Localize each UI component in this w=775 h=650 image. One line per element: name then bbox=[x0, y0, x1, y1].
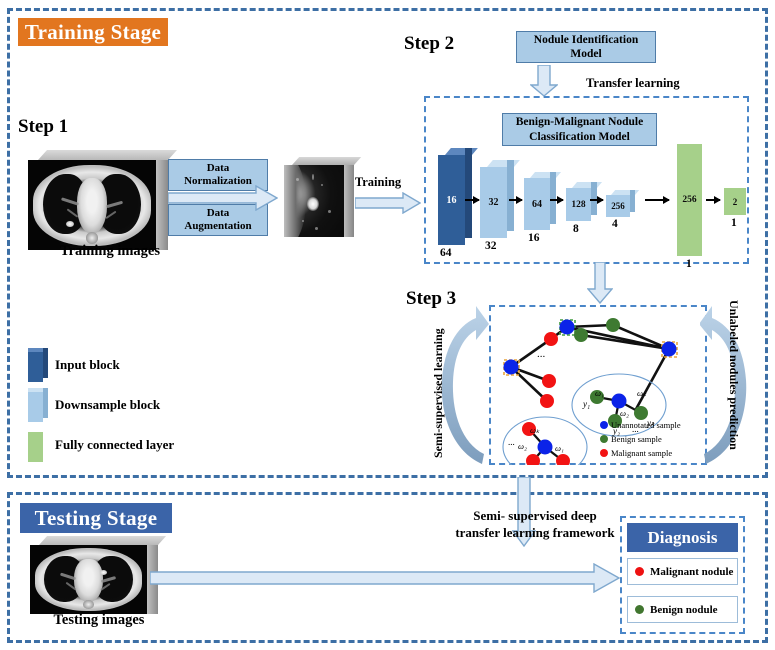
cnn-input-block-size: 64 bbox=[440, 247, 452, 259]
nodule-identification-line2: Model bbox=[570, 48, 601, 60]
cnn-downsample-3: 128 bbox=[566, 182, 597, 221]
unannotated-sample-dot-icon bbox=[600, 421, 608, 429]
cnn-ds4-channels: 256 bbox=[611, 201, 625, 211]
training-images-caption: Training images bbox=[30, 243, 190, 260]
training-block-arrow bbox=[355, 192, 421, 214]
svg-text:...: ... bbox=[587, 324, 596, 336]
malignant-weight-omega2: ω₂ bbox=[518, 441, 527, 451]
cnn-ds3-size: 8 bbox=[573, 223, 579, 235]
patch-top-face bbox=[292, 157, 361, 165]
benign-malignant-classification-model-box: Benign-Malignant Nodule Classification M… bbox=[502, 113, 657, 146]
training-images-volume bbox=[28, 150, 168, 250]
data-normalization-line1: Data bbox=[207, 162, 230, 174]
malignant-cluster-ellipsis: ... bbox=[508, 437, 515, 447]
testing-images-volume bbox=[30, 536, 158, 614]
benign-weight-omega2: ω₂ bbox=[620, 408, 629, 418]
diagnosis-row-malignant: Malignant nodule bbox=[627, 558, 738, 585]
cnn-ds4-size: 4 bbox=[612, 218, 618, 230]
cnn-downsample-4: 256 bbox=[606, 190, 635, 217]
cnn-downsample-2: 64 bbox=[524, 172, 556, 230]
legend-input-block-label: Input block bbox=[55, 357, 120, 373]
preprocess-block-arrow bbox=[168, 185, 278, 211]
cnn-ds3-channels: 128 bbox=[571, 200, 585, 210]
legend-downsample-block-label: Downsample block bbox=[55, 397, 160, 413]
semi-supervised-learning-label: Semi-supervised learning bbox=[418, 306, 434, 458]
testing-ct-slice bbox=[30, 545, 147, 614]
training-stage-badge: Training Stage bbox=[18, 18, 168, 46]
cnn-input-block: 16 bbox=[438, 148, 472, 245]
step3-legend-benign-label: Benign sample bbox=[611, 434, 662, 444]
diagnosis-title: Diagnosis bbox=[627, 523, 738, 552]
nodule-patch-image bbox=[284, 165, 344, 237]
nodule-identification-line1: Nodule Identification bbox=[534, 34, 638, 46]
benign-weight-omega1: ω₁ bbox=[595, 388, 604, 398]
cnn-fc-size: 1 bbox=[686, 258, 692, 270]
step3-legend-unannotated-label: Unannotated sample bbox=[611, 420, 681, 430]
cnn-output-size: 1 bbox=[731, 217, 737, 229]
cnn-arrow-6 bbox=[706, 199, 720, 201]
transfer-learning-label: Transfer learning bbox=[586, 76, 680, 91]
benign-sample-dot-icon bbox=[600, 435, 608, 443]
testing-images-caption: Testing images bbox=[24, 612, 174, 629]
diagnosis-malignant-label: Malignant nodule bbox=[650, 566, 733, 578]
step2-to-step3-arrow bbox=[587, 262, 613, 304]
cnn-output-channels: 2 bbox=[733, 197, 738, 207]
training-arrow-label: Training bbox=[342, 175, 414, 190]
unlabeled-nodules-prediction-label: Unlabeled nodules prediction bbox=[738, 300, 754, 470]
cnn-output-layer: 2 bbox=[724, 188, 746, 215]
testing-stage-badge: Testing Stage bbox=[20, 503, 172, 533]
testing-volume-top-face bbox=[39, 536, 166, 545]
volume-side-face bbox=[156, 160, 168, 250]
step3-legend-benign: Benign sample bbox=[600, 434, 662, 444]
cnn-arrow-1 bbox=[465, 199, 479, 201]
cnn-fc-channels: 256 bbox=[682, 195, 696, 205]
diagnosis-row-benign: Benign nodule bbox=[627, 596, 738, 623]
training-ct-slice bbox=[28, 160, 156, 250]
testing-to-diagnosis-arrow bbox=[150, 563, 620, 593]
step3-legend-malignant: Malignant sample bbox=[600, 448, 672, 458]
data-augmentation-line2: Augmentation bbox=[184, 220, 251, 232]
malignant-weight-omegak: ωₖ bbox=[530, 425, 540, 436]
svg-text:...: ... bbox=[537, 348, 546, 360]
step1-title: Step 1 bbox=[18, 116, 68, 138]
malignant-sample-dot-icon bbox=[600, 449, 608, 457]
nodule-identification-model-box: Nodule Identification Model bbox=[516, 31, 656, 63]
cnn-arrow-5 bbox=[645, 199, 669, 201]
benign-nodule-dot-icon bbox=[635, 605, 644, 614]
downsample-block-swatch-icon bbox=[28, 388, 43, 422]
cnn-ds2-size: 16 bbox=[528, 232, 540, 244]
framework-line2: transfer learning framework bbox=[455, 525, 614, 540]
malignant-weight-omega1: ω₁ bbox=[555, 443, 564, 453]
volume-top-face bbox=[38, 150, 177, 160]
nodule-patch-volume bbox=[284, 157, 354, 237]
cnn-input-block-channels: 16 bbox=[447, 195, 457, 206]
bmnc-line2: Classification Model bbox=[529, 131, 630, 143]
benign-label-y1: y₁ bbox=[583, 399, 590, 409]
legend-fully-connected-label: Fully connected layer bbox=[55, 437, 174, 453]
step3-legend-unannotated: Unannotated sample bbox=[600, 420, 681, 430]
benign-weight-omegak: ωₖ bbox=[637, 388, 647, 399]
step2-title: Step 2 bbox=[404, 33, 454, 55]
step3-legend-malignant-label: Malignant sample bbox=[611, 448, 672, 458]
malignant-nodule-dot-icon bbox=[635, 567, 644, 576]
cnn-ds1-channels: 32 bbox=[489, 197, 499, 208]
framework-label: Semi- supervised deep transfer learning … bbox=[430, 508, 640, 542]
fully-connected-swatch-icon bbox=[28, 428, 43, 462]
cnn-arrow-2 bbox=[509, 199, 522, 201]
cnn-fully-connected: 256 bbox=[677, 144, 702, 256]
input-block-swatch-icon bbox=[28, 348, 43, 382]
cnn-arrow-3 bbox=[550, 199, 563, 201]
cnn-ds1-size: 32 bbox=[485, 240, 497, 252]
cnn-ds2-channels: 64 bbox=[532, 199, 542, 210]
framework-line1: Semi- supervised deep bbox=[473, 508, 597, 523]
legend-downsample-block: Downsample block bbox=[28, 388, 160, 422]
bmnc-line1: Benign-Malignant Nodule bbox=[516, 116, 643, 128]
legend-fully-connected-layer: Fully connected layer bbox=[28, 428, 174, 462]
legend-input-block: Input block bbox=[28, 348, 120, 382]
cnn-arrow-4 bbox=[590, 199, 603, 201]
diagnosis-benign-label: Benign nodule bbox=[650, 604, 718, 616]
transfer-learning-arrow bbox=[530, 65, 558, 97]
